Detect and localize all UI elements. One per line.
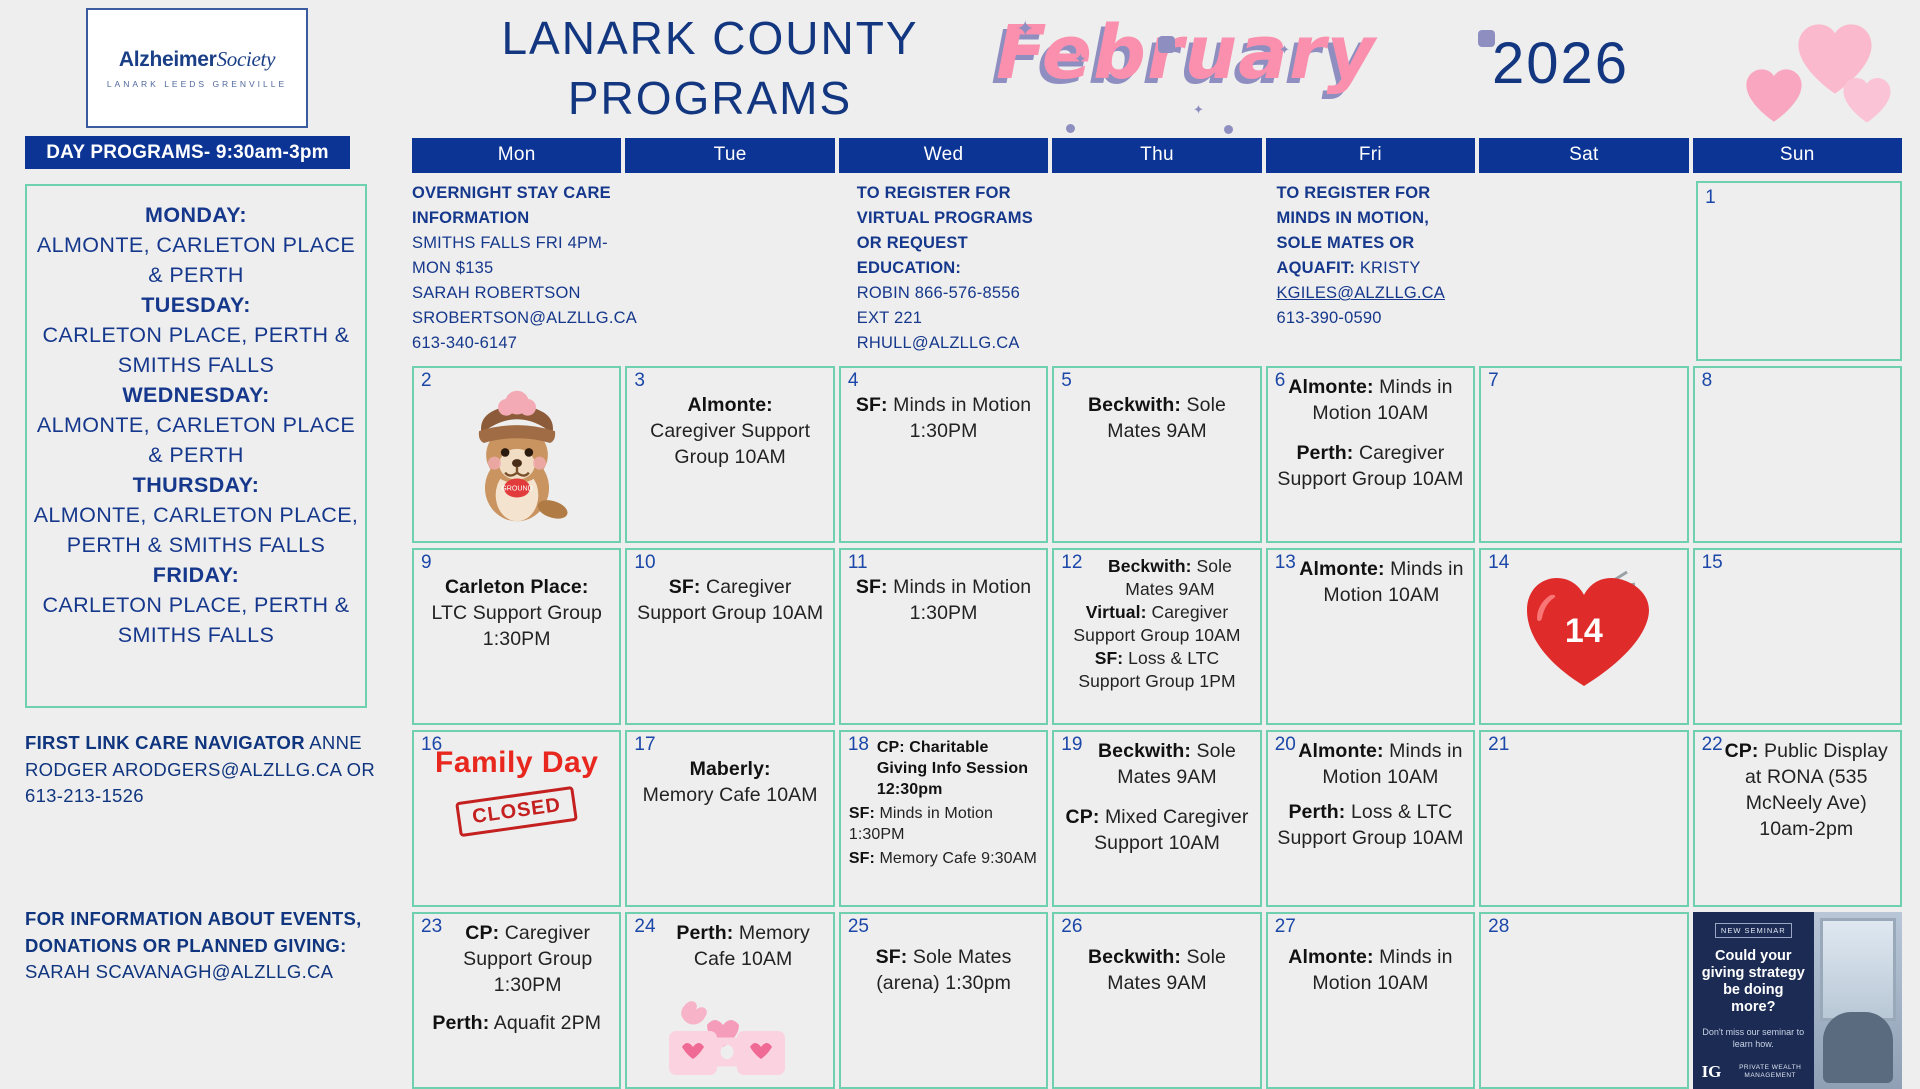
event-label: Almonte: [687,394,772,416]
square-dot-icon [1158,36,1175,53]
closed-stamp: CLOSED [455,786,578,837]
day-cell-23[interactable]: 23 CP: Caregiver Support Group 1:30PM Pe… [412,912,621,1089]
day-cell-13[interactable]: 13 Almonte: Minds in Motion 10AM [1266,548,1475,725]
day-number: 8 [1702,370,1713,392]
contact-heading-0: FIRST LINK CARE NAVIGATOR [25,732,305,753]
info-note-email-link[interactable]: KGILES@ALZLLG.CA [1276,284,1445,302]
day-cell-5[interactable]: 5 Beckwith: Sole Mates 9AM [1052,366,1261,543]
event-list: SF: Minds in Motion 1:30PM [847,372,1040,444]
day-number: 11 [848,552,868,574]
event-label: CP: Charitable Giving Info Session 12:30… [877,739,1028,798]
day-cell-24[interactable]: 24 Perth: Memory Cafe 10AM [625,912,834,1089]
day-number: 18 [848,734,869,756]
month-label: February [996,10,1376,96]
day-programs-day-2: WEDNESDAY: [31,380,361,410]
day-number: 28 [1488,916,1509,938]
event-item: SF: Sole Mates (arena) 1:30pm [849,944,1038,996]
day-number: 17 [634,734,655,756]
ad-photo [1814,912,1902,1089]
day-number: 6 [1275,370,1286,392]
event-list: Perth: Memory Cafe 10AM [633,918,826,972]
event-label: Perth: [432,1012,489,1034]
info-note-overnight-stay: OVERNIGHT STAY CARE INFORMATION SMITHS F… [412,181,643,361]
day-number: 10 [634,552,655,574]
day-cell-25[interactable]: 25 SF: Sole Mates (arena) 1:30pm [839,912,1048,1089]
info-spacer [1486,181,1692,361]
event-text: Minds in Motion 1:30PM [893,394,1031,442]
event-item: SF: Loss & LTC Support Group 1PM [1062,647,1251,693]
event-item: CP: Charitable Giving Info Session 12:30… [849,737,1038,800]
weekday-header-sun: Sun [1693,138,1902,173]
event-label: SF: [669,576,701,598]
groundhog-icon: GROUND [457,386,577,526]
event-text: Minds in Motion 1:30PM [893,576,1031,624]
event-item: SF: Memory Cafe 9:30AM [849,848,1038,869]
ad-headline: Could your giving strategy be doing more… [1702,948,1805,1016]
event-list: SF: Minds in Motion 1:30PM [847,554,1040,626]
day-cell-4[interactable]: 4 SF: Minds in Motion 1:30PM [839,366,1048,543]
valentine-heart-illustration: 14 [1519,566,1649,694]
info-note-phone: 613-390-0590 [1276,309,1381,327]
day-number: 19 [1061,734,1082,756]
info-note-line: SARAH ROBERTSON [412,284,581,302]
event-item: Perth: Memory Cafe 10AM [635,920,824,972]
day-number: 13 [1275,552,1296,574]
day-number: 5 [1061,370,1072,392]
event-list: Beckwith: Sole Mates 9AM [1060,918,1253,996]
event-label: Beckwith: [1088,946,1181,968]
info-note-minds-in-motion: TO REGISTER FOR MINDS IN MOTION, SOLE MA… [1276,181,1482,361]
day-number: 1 [1705,185,1716,210]
event-list: Almonte: Minds in Motion 10AM Perth: Los… [1274,736,1467,851]
event-item: Carleton Place:LTC Support Group 1:30PM [422,574,611,652]
mugs-icon [655,995,805,1081]
circle-dot-icon [1066,124,1075,133]
event-item: Almonte: Minds in Motion 10AM [1276,738,1465,790]
contact-heading-1: FOR INFORMATION ABOUT EVENTS, DONATIONS … [25,908,362,956]
event-label: Perth: [1296,442,1353,464]
event-item: Maberly:Memory Cafe 10AM [635,756,824,808]
logo-wordmark: AlzheimerSociety [119,47,275,72]
alzheimer-society-logo: AlzheimerSociety LANARK LEEDS GRENVILLE [86,8,308,128]
event-label: Maberly: [690,758,771,780]
calendar: Mon Tue Wed Thu Fri Sat Sun OVERNIGHT ST… [412,138,1902,1089]
calendar-page: AlzheimerSociety LANARK LEEDS GRENVILLE … [0,0,1920,1080]
info-spacer [1067,181,1273,361]
event-item: CP: Mixed Caregiver Support 10AM [1062,804,1251,856]
day-cell-14[interactable]: 14 14 [1479,548,1688,725]
ad-photo-window [1820,918,1896,1021]
event-text: Caregiver Support Group 10AM [637,576,823,624]
heart-icon [1740,60,1808,128]
event-list: Almonte: Minds in Motion 10AM Perth: Car… [1274,372,1467,492]
event-label: Beckwith: [1098,740,1191,762]
event-list: Beckwith: Sole Mates 9AM CP: Mixed Careg… [1060,736,1253,856]
event-list: Maberly:Memory Cafe 10AM [633,736,826,808]
info-note-line: 613-340-6147 [412,334,517,352]
day-cell-19[interactable]: 19 Beckwith: Sole Mates 9AM CP: Mixed Ca… [1052,730,1261,907]
day-cell-11[interactable]: 11 SF: Minds in Motion 1:30PM [839,548,1048,725]
info-spacer [647,181,853,361]
day-number: 26 [1061,916,1082,938]
day-number: 21 [1488,734,1509,756]
day-programs-box: MONDAY: ALMONTE, CARLETON PLACE & PERTH … [25,184,367,708]
logo-subtitle: LANARK LEEDS GRENVILLE [107,79,287,89]
ad-logo-text: PRIVATE WEALTH MANAGEMENT [1726,1064,1814,1080]
day-cell-16[interactable]: 16 Family Day CLOSED [412,730,621,907]
day-cell-6[interactable]: 6 Almonte: Minds in Motion 10AM Perth: C… [1266,366,1475,543]
event-label: SF: [876,946,908,968]
day-number: 4 [848,370,859,392]
event-label: SF: [849,805,875,822]
advertisement-banner[interactable]: NEW SEMINAR Could your giving strategy b… [1693,912,1902,1089]
contact-body-1: SARAH SCAVANAGH@ALZLLG.CA [25,961,333,982]
weekday-header-tue: Tue [625,138,834,173]
event-text: Aquafit 2PM [494,1012,601,1034]
event-label: Beckwith: [1088,394,1181,416]
event-text: LTC Support Group 1:30PM [432,602,602,650]
calendar-week-row: 2 [412,366,1902,543]
day-cell-1[interactable]: 1 [1696,181,1902,361]
event-label: Almonte: [1288,376,1373,398]
event-text: Memory Cafe 10AM [643,784,818,806]
day-number: 3 [634,370,645,392]
ad-content: NEW SEMINAR Could your giving strategy b… [1693,912,1902,1089]
weekday-header-thu: Thu [1052,138,1261,173]
event-label: CP: [465,922,499,944]
event-list: SF: Caregiver Support Group 10AM [633,554,826,626]
day-cell-15[interactable]: 15 [1693,548,1902,725]
day-programs-day-4: FRIDAY: [31,560,361,590]
day-number: 12 [1061,552,1082,574]
info-note-heading-0: OVERNIGHT STAY CARE INFORMATION [412,184,611,227]
weekday-header-wed: Wed [839,138,1048,173]
event-item: Almonte: Minds in Motion 10AM [1276,374,1465,426]
heart-day-number: 14 [1519,612,1649,651]
weekday-header-sat: Sat [1479,138,1688,173]
ad-subtext: Don't miss our seminar to learn how. [1702,1026,1805,1050]
info-note-line: SMITHS FALLS FRI 4PM-MON $135 [412,234,608,277]
event-item: SF: Caregiver Support Group 10AM [635,574,824,626]
event-label: Perth: [1288,801,1345,823]
calendar-week-row: 23 CP: Caregiver Support Group 1:30PM Pe… [412,912,1902,1089]
event-list: Carleton Place:LTC Support Group 1:30PM [420,554,613,652]
event-item: Beckwith: Sole Mates 9AM [1062,392,1251,444]
event-label: CP: [1066,806,1100,828]
event-text: Public Display at RONA (535 McNeely Ave)… [1745,740,1888,840]
day-number: 16 [421,734,442,756]
event-list: Almonte: Minds in Motion 10AM [1274,918,1467,996]
event-item: Perth: Loss & LTC Support Group 10AM [1276,799,1465,851]
event-item: CP: Caregiver Support Group 1:30PM [422,920,611,998]
event-list: Almonte:Caregiver Support Group 10AM [633,372,826,470]
day-cell-17[interactable]: 17 Maberly:Memory Cafe 10AM [625,730,834,907]
day-programs-loc-4: CARLETON PLACE, PERTH & SMITHS FALLS [31,590,361,650]
day-number: 25 [848,916,869,938]
event-label: Perth: [676,922,733,944]
day-number: 22 [1702,734,1723,756]
event-label: CP: [1725,740,1759,762]
ad-photo-people [1823,1012,1893,1083]
sparkle-icon: ✦ [1016,16,1034,42]
day-number: 15 [1702,552,1723,574]
contact-first-link-care-navigator: FIRST LINK CARE NAVIGATOR ANNE RODGER AR… [25,730,385,810]
sparkle-icon: ✦ [1074,50,1087,68]
weekday-header-row: Mon Tue Wed Thu Fri Sat Sun [412,138,1902,173]
circle-dot-icon [1224,125,1233,134]
day-programs-day-3: THURSDAY: [31,470,361,500]
info-note-heading-1: TO REGISTER FOR VIRTUAL PROGRAMS OR REQU… [857,184,1033,277]
info-note-line: ROBIN 866-576-8556 EXT 221 [857,284,1020,327]
event-label: Beckwith: [1108,556,1192,576]
event-item: Beckwith: Sole Mates 9AM [1062,944,1251,996]
day-number: 27 [1275,916,1296,938]
day-cell-2[interactable]: 2 [412,366,621,543]
page-title: LANARK COUNTY PROGRAMS [400,8,1020,128]
calendar-week-row: 16 Family Day CLOSED 17 Maberly:Memory C… [412,730,1902,907]
event-label: SF: [849,850,875,867]
info-note-line: SROBERTSON@ALZLLG.CA [412,309,637,327]
event-list: CP: Public Display at RONA (535 McNeely … [1701,736,1894,842]
event-label: Virtual: [1086,602,1147,622]
day-cell-7[interactable]: 7 [1479,366,1688,543]
event-label: Almonte: [1288,946,1373,968]
ad-logo: IG PRIVATE WEALTH MANAGEMENT [1702,1062,1814,1082]
day-cell-22[interactable]: 22 CP: Public Display at RONA (535 McNee… [1693,730,1902,907]
event-list: Beckwith: Sole Mates 9AM Virtual: Caregi… [1060,554,1253,693]
day-number: 23 [421,916,442,938]
event-text: Memory Cafe 9:30AM [879,850,1036,867]
event-item: Almonte: Minds in Motion 10AM [1276,944,1465,996]
day-cell-21[interactable]: 21 [1479,730,1688,907]
day-cell-8[interactable]: 8 [1693,366,1902,543]
event-label: Almonte: [1299,558,1384,580]
event-item: Virtual: Caregiver Support Group 10AM [1062,601,1251,647]
event-list: SF: Sole Mates (arena) 1:30pm [847,918,1040,996]
day-programs-day-0: MONDAY: [31,200,361,230]
day-cell-20[interactable]: 20 Almonte: Minds in Motion 10AM Perth: … [1266,730,1475,907]
day-programs-loc-0: ALMONTE, CARLETON PLACE & PERTH [31,230,361,290]
event-list: Beckwith: Sole Mates 9AM [1060,372,1253,444]
event-list: CP: Charitable Giving Info Session 12:30… [847,736,1040,869]
day-cell-18[interactable]: 18 CP: Charitable Giving Info Session 12… [839,730,1048,907]
event-label: Almonte: [1298,740,1383,762]
info-note-contact-name: KRISTY [1360,259,1421,277]
ad-logo-mark: IG [1702,1062,1722,1082]
day-number: 9 [421,552,432,574]
weekday-header-mon: Mon [412,138,621,173]
svg-text:GROUND: GROUND [501,484,533,492]
event-list: Almonte: Minds in Motion 10AM [1274,554,1467,608]
day-cell-28[interactable]: 28 [1479,912,1688,1089]
event-item: Almonte: Minds in Motion 10AM [1276,556,1465,608]
weekday-header-fri: Fri [1266,138,1475,173]
event-item: Almonte:Caregiver Support Group 10AM [635,392,824,470]
day-programs-loc-2: ALMONTE, CARLETON PLACE & PERTH [31,410,361,470]
day-programs-day-1: TUESDAY: [31,290,361,320]
logo-main-bold: Alzheimer [119,48,217,71]
event-item: Beckwith: Sole Mates 9AM [1062,738,1251,790]
day-cell-9[interactable]: 9 Carleton Place:LTC Support Group 1:30P… [412,548,621,725]
day-cell-3[interactable]: 3 Almonte:Caregiver Support Group 10AM [625,366,834,543]
calendar-week-row: 9 Carleton Place:LTC Support Group 1:30P… [412,548,1902,725]
event-label: SF: [856,394,888,416]
sparkle-icon: ✦ [1193,102,1204,118]
event-item: Perth: Aquafit 2PM [422,1010,611,1036]
event-list: CP: Caregiver Support Group 1:30PM Perth… [420,918,613,1036]
day-cell-12[interactable]: 12 Beckwith: Sole Mates 9AM Virtual: Car… [1052,548,1261,725]
heart-icon [1838,70,1896,128]
info-note-line: RHULL@ALZLLG.CA [857,334,1020,352]
day-number: 2 [421,370,432,392]
event-label: SF: [1095,648,1124,668]
sparkle-icon: ✦ [1279,42,1290,58]
sidebar: AlzheimerSociety LANARK LEEDS GRENVILLE … [0,0,410,1080]
event-label: Carleton Place: [445,576,588,598]
family-day-label: Family Day [420,736,613,780]
day-cell-10[interactable]: 10 SF: Caregiver Support Group 10AM [625,548,834,725]
day-programs-loc-3: ALMONTE, CARLETON PLACE, PERTH & SMITHS … [31,500,361,560]
ad-badge: NEW SEMINAR [1715,923,1792,938]
contact-events-donations: FOR INFORMATION ABOUT EVENTS, DONATIONS … [25,906,385,986]
day-programs-loc-1: CARLETON PLACE, PERTH & SMITHS FALLS [31,320,361,380]
day-number: 20 [1275,734,1296,756]
event-item: SF: Minds in Motion 1:30PM [849,803,1038,845]
info-note-virtual-programs: TO REGISTER FOR VIRTUAL PROGRAMS OR REQU… [857,181,1063,361]
square-dot-icon [1478,30,1495,47]
event-label: SF: [856,576,888,598]
day-number: 14 [1488,552,1509,574]
day-number: 24 [634,916,655,938]
calendar-info-row: OVERNIGHT STAY CARE INFORMATION SMITHS F… [412,181,1902,361]
event-item: SF: Minds in Motion 1:30PM [849,392,1038,444]
event-item: CP: Public Display at RONA (535 McNeely … [1703,738,1892,842]
day-cell-27[interactable]: 27 Almonte: Minds in Motion 10AM [1266,912,1475,1089]
logo-main-italic: Society [217,47,276,71]
event-text: Caregiver Support Group 10AM [650,420,810,468]
day-number: 7 [1488,370,1499,392]
event-item: Beckwith: Sole Mates 9AM [1062,555,1251,601]
day-programs-banner: DAY PROGRAMS- 9:30am-3pm [25,136,350,169]
event-text: Mixed Caregiver Support 10AM [1094,806,1248,854]
year-label: 2026 [1492,30,1629,97]
day-cell-26[interactable]: 26 Beckwith: Sole Mates 9AM [1052,912,1261,1089]
ad-text-panel: NEW SEMINAR Could your giving strategy b… [1693,912,1814,1089]
event-item: Perth: Caregiver Support Group 10AM [1276,440,1465,492]
event-item: SF: Minds in Motion 1:30PM [849,574,1038,626]
